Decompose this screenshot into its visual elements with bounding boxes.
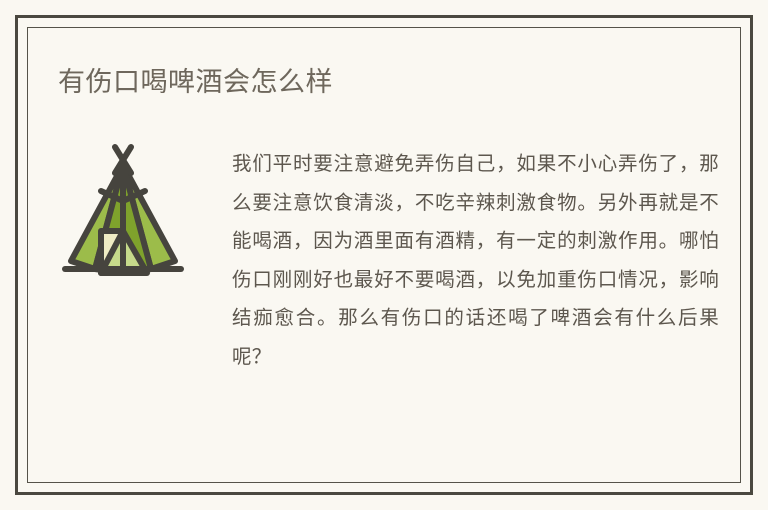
page-title: 有伤口喝啤酒会怎么样 [58, 66, 333, 100]
card-content: 有伤口喝啤酒会怎么样 [27, 27, 741, 483]
teepee-tent-illustration [61, 139, 201, 287]
article-body: 我们平时要注意避免弄伤自己，如果不小心弄伤了，那么要注意饮食清淡，不吃辛辣刺激食… [232, 145, 719, 376]
page-root: 有伤口喝啤酒会怎么样 [0, 0, 768, 510]
teepee-tent-icon [61, 139, 201, 287]
article-body-text: 我们平时要注意避免弄伤自己，如果不小心弄伤了，那么要注意饮食清淡，不吃辛辣刺激食… [232, 145, 719, 376]
